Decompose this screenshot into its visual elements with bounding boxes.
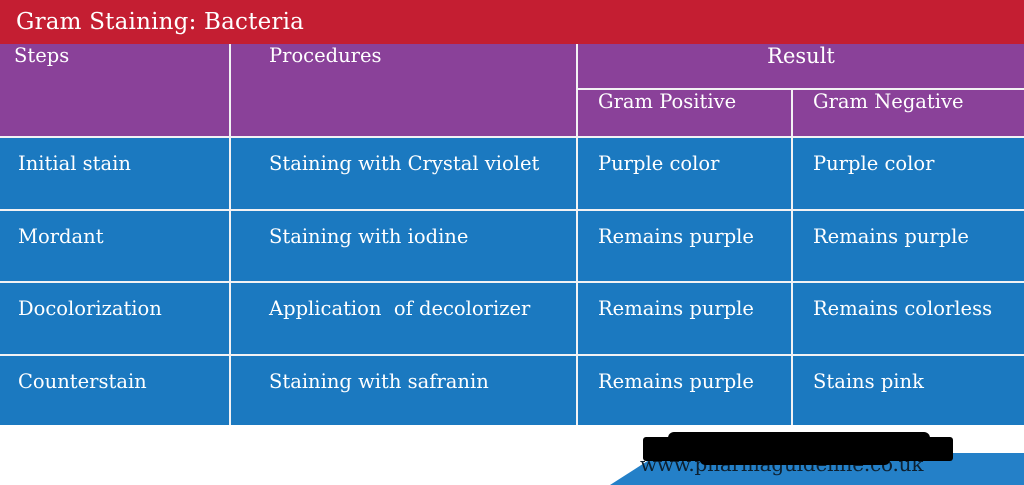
cell-gram-negative: Purple color <box>793 138 1024 211</box>
header-label-procedures: Procedures <box>231 44 576 75</box>
header-label-gram-negative: Gram Negative <box>793 90 1024 115</box>
cell-gram-negative: Stains pink <box>793 356 1024 426</box>
cell-text-step: Initial stain <box>0 138 229 183</box>
cell-text-step: Mordant <box>0 211 229 256</box>
cell-text-step: Docolorization <box>0 283 229 328</box>
gram-staining-table-container: Steps Procedures Result Gram Positive Gr… <box>0 44 1024 425</box>
cell-text-gram-positive: Remains purple <box>578 283 791 328</box>
header-label-result: Result <box>578 44 1024 69</box>
page-title: Gram Staining: Bacteria <box>0 9 304 35</box>
cell-gram-positive: Purple color <box>578 138 793 211</box>
cell-text-gram-negative: Purple color <box>793 138 1024 183</box>
header-label-steps: Steps <box>0 44 229 83</box>
cell-step: Initial stain <box>0 138 231 211</box>
cell-gram-negative: Remains purple <box>793 211 1024 284</box>
table-row: Docolorization Application of decolorize… <box>0 283 1024 356</box>
cell-text-procedure: Staining with Crystal violet <box>231 138 576 183</box>
header-cell-gram-negative: Gram Negative <box>793 90 1024 138</box>
cell-text-procedure: Staining with safranin <box>231 356 576 401</box>
gram-staining-table: Steps Procedures Result Gram Positive Gr… <box>0 44 1024 425</box>
cell-gram-negative: Remains colorless <box>793 283 1024 356</box>
header-cell-gram-positive: Gram Positive <box>578 90 793 138</box>
table-row: Initial stain Staining with Crystal viol… <box>0 138 1024 211</box>
header-cell-procedures: Procedures <box>231 44 578 138</box>
cell-text-procedure: Application of decolorizer <box>231 283 576 328</box>
cell-gram-positive: Remains purple <box>578 283 793 356</box>
cell-procedure: Staining with iodine <box>231 211 578 284</box>
header-cell-steps: Steps <box>0 44 231 138</box>
cell-text-step: Counterstain <box>0 356 229 401</box>
cell-text-procedure: Staining with iodine <box>231 211 576 256</box>
cell-step: Counterstain <box>0 356 231 426</box>
slide-title-bar: Gram Staining: Bacteria <box>0 0 1024 44</box>
cell-step: Mordant <box>0 211 231 284</box>
cell-text-gram-positive: Purple color <box>578 138 791 183</box>
redaction-blob-bottom <box>700 455 890 465</box>
header-label-gram-positive: Gram Positive <box>578 90 791 115</box>
cell-procedure: Application of decolorizer <box>231 283 578 356</box>
header-cell-result-group: Result <box>578 44 1024 90</box>
cell-text-gram-negative: Remains colorless <box>793 283 1024 328</box>
cell-text-gram-positive: Remains purple <box>578 356 791 401</box>
table-header-row-primary: Steps Procedures Result <box>0 44 1024 90</box>
cell-step: Docolorization <box>0 283 231 356</box>
cell-text-gram-negative: Stains pink <box>793 356 1024 401</box>
cell-text-gram-positive: Remains purple <box>578 211 791 256</box>
cell-gram-positive: Remains purple <box>578 211 793 284</box>
cell-gram-positive: Remains purple <box>578 356 793 426</box>
table-row: Mordant Staining with iodine Remains pur… <box>0 211 1024 284</box>
table-row: Counterstain Staining with safranin Rema… <box>0 356 1024 426</box>
cell-procedure: Staining with Crystal violet <box>231 138 578 211</box>
cell-text-gram-negative: Remains purple <box>793 211 1024 256</box>
cell-procedure: Staining with safranin <box>231 356 578 426</box>
